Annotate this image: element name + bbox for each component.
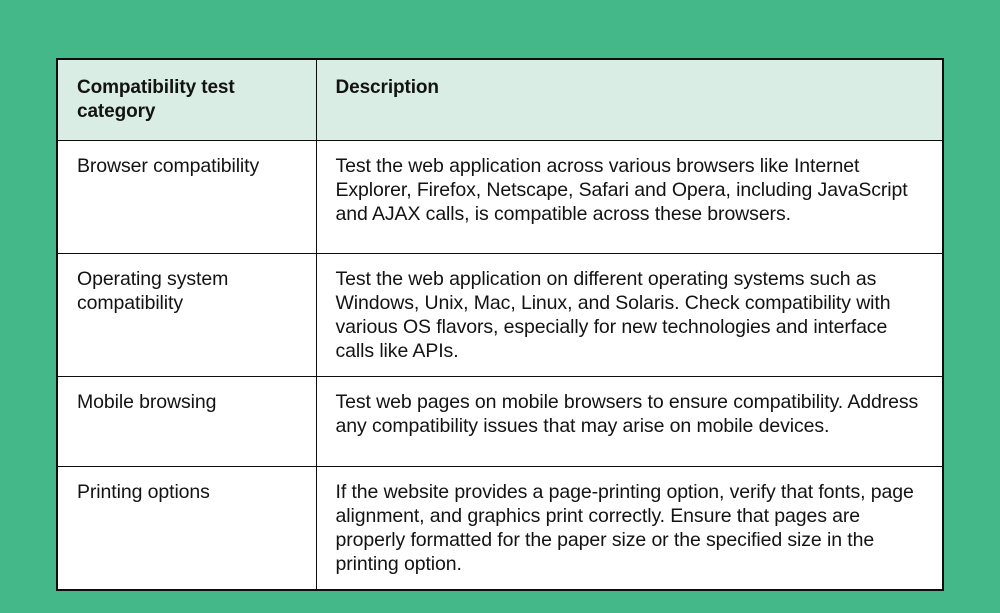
table-body: Browser compatibility Test the web appli… xyxy=(57,141,943,591)
table-row: Printing options If the website provides… xyxy=(57,467,943,591)
cell-description-printing-options: If the website provides a page-printing … xyxy=(316,467,943,591)
table-header-row: Compatibility test category Description xyxy=(57,59,943,141)
cell-category-printing-options: Printing options xyxy=(57,467,316,591)
cell-description-mobile-browsing: Test web pages on mobile browsers to ens… xyxy=(316,377,943,467)
table-row: Operating system compatibility Test the … xyxy=(57,254,943,377)
table-row: Browser compatibility Test the web appli… xyxy=(57,141,943,254)
cell-category-operating-system-compatibility: Operating system compatibility xyxy=(57,254,316,377)
table-header: Compatibility test category Description xyxy=(57,59,943,141)
compatibility-test-table: Compatibility test category Description … xyxy=(56,58,944,591)
column-header-description: Description xyxy=(316,59,943,141)
compatibility-table-container: Compatibility test category Description … xyxy=(56,58,944,553)
column-header-category: Compatibility test category xyxy=(57,59,316,141)
cell-description-browser-compatibility: Test the web application across various … xyxy=(316,141,943,254)
cell-category-mobile-browsing: Mobile browsing xyxy=(57,377,316,467)
table-row: Mobile browsing Test web pages on mobile… xyxy=(57,377,943,467)
cell-description-operating-system-compatibility: Test the web application on different op… xyxy=(316,254,943,377)
cell-category-browser-compatibility: Browser compatibility xyxy=(57,141,316,254)
